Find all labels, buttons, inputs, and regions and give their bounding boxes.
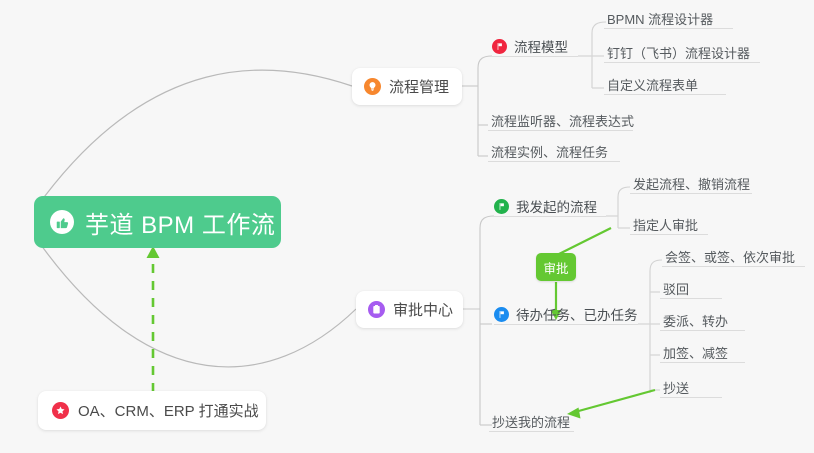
- leaf-delegate-transfer-label: 委派、转办: [663, 311, 728, 330]
- clipboard-icon: [368, 301, 385, 318]
- leaf-delegate-transfer[interactable]: 委派、转办: [660, 310, 745, 331]
- leaf-assignee-approval[interactable]: 指定人审批: [630, 214, 708, 235]
- leaf-add-remove-sign[interactable]: 加签、减签: [660, 342, 745, 363]
- leaf-start-cancel-process[interactable]: 发起流程、撤销流程: [630, 173, 752, 194]
- edge-pm-to-model: [478, 56, 492, 68]
- flag-icon: [492, 39, 507, 54]
- bottom-note-label: OA、CRM、ERP 打通实战: [78, 400, 259, 421]
- leaf-dingtalk-feishu-designer[interactable]: 钉钉（飞书）流程设计器: [604, 42, 760, 63]
- branch-process-management-label: 流程管理: [389, 76, 449, 97]
- flag-icon: [494, 307, 509, 322]
- leaf-cc[interactable]: 抄送: [660, 377, 722, 398]
- thumbs-up-icon: [50, 210, 74, 234]
- arrow-cc-to-ccme: [575, 390, 655, 412]
- leaf-cc-to-me-process[interactable]: 抄送我的流程: [489, 411, 574, 432]
- edge-root-to-process-management: [36, 70, 352, 208]
- leaf-multi-sign-or-sign-sequential-label: 会签、或签、依次审批: [665, 247, 795, 266]
- leaf-process-model[interactable]: 流程模型: [492, 36, 578, 57]
- mindmap-canvas: 芋道 BPM 工作流 流程管理 流程模型 BPMN 流程设计器 钉钉（飞书）流程…: [0, 0, 814, 453]
- flag-icon: [494, 199, 509, 214]
- edge-init-to-start: [618, 187, 630, 197]
- leaf-cc-to-me-process-label: 抄送我的流程: [492, 412, 570, 431]
- leaf-bpmn-designer[interactable]: BPMN 流程设计器: [604, 8, 733, 29]
- leaf-custom-process-form[interactable]: 自定义流程表单: [604, 74, 726, 95]
- leaf-process-listener-expression-label: 流程监听器、流程表达式: [491, 111, 634, 130]
- approval-annotation-badge: 审批: [536, 253, 576, 281]
- leaf-my-initiated-process-label: 我发起的流程: [516, 196, 597, 216]
- leaf-add-remove-sign-label: 加签、减签: [663, 343, 728, 362]
- edge-todo-to-multisign: [650, 260, 662, 271]
- branch-process-management[interactable]: 流程管理: [352, 68, 462, 105]
- leaf-my-initiated-process[interactable]: 我发起的流程: [494, 196, 606, 217]
- branch-approval-center[interactable]: 审批中心: [356, 291, 463, 328]
- bottom-note-card[interactable]: OA、CRM、ERP 打通实战: [38, 391, 266, 430]
- edge-root-to-approval-center: [36, 238, 356, 367]
- approval-annotation-label: 审批: [543, 258, 568, 277]
- leaf-cc-label: 抄送: [663, 378, 689, 397]
- arrow-initiated-to-badge: [557, 228, 611, 255]
- leaf-start-cancel-process-label: 发起流程、撤销流程: [633, 174, 750, 193]
- leaf-assignee-approval-label: 指定人审批: [633, 215, 698, 234]
- root-node[interactable]: 芋道 BPM 工作流: [34, 196, 281, 248]
- leaf-process-instance-task[interactable]: 流程实例、流程任务: [488, 141, 620, 162]
- leaf-process-instance-task-label: 流程实例、流程任务: [491, 142, 608, 161]
- leaf-dingtalk-feishu-designer-label: 钉钉（飞书）流程设计器: [607, 43, 750, 62]
- edge-ac-to-initiated: [480, 216, 494, 228]
- leaf-reject-label: 驳回: [663, 279, 689, 298]
- branch-approval-center-label: 审批中心: [393, 299, 453, 320]
- leaf-bpmn-designer-label: BPMN 流程设计器: [607, 9, 713, 28]
- root-label: 芋道 BPM 工作流: [85, 205, 275, 240]
- leaf-multi-sign-or-sign-sequential[interactable]: 会签、或签、依次审批: [662, 246, 805, 267]
- leaf-custom-process-form-label: 自定义流程表单: [607, 75, 698, 94]
- leaf-todo-done-tasks[interactable]: 待办任务、已办任务: [494, 304, 638, 325]
- lightbulb-icon: [364, 78, 381, 95]
- leaf-reject[interactable]: 驳回: [660, 278, 722, 299]
- leaf-todo-done-tasks-label: 待办任务、已办任务: [516, 304, 638, 324]
- star-icon: [52, 402, 69, 419]
- leaf-process-model-label: 流程模型: [514, 36, 568, 56]
- leaf-process-listener-expression[interactable]: 流程监听器、流程表达式: [488, 110, 633, 131]
